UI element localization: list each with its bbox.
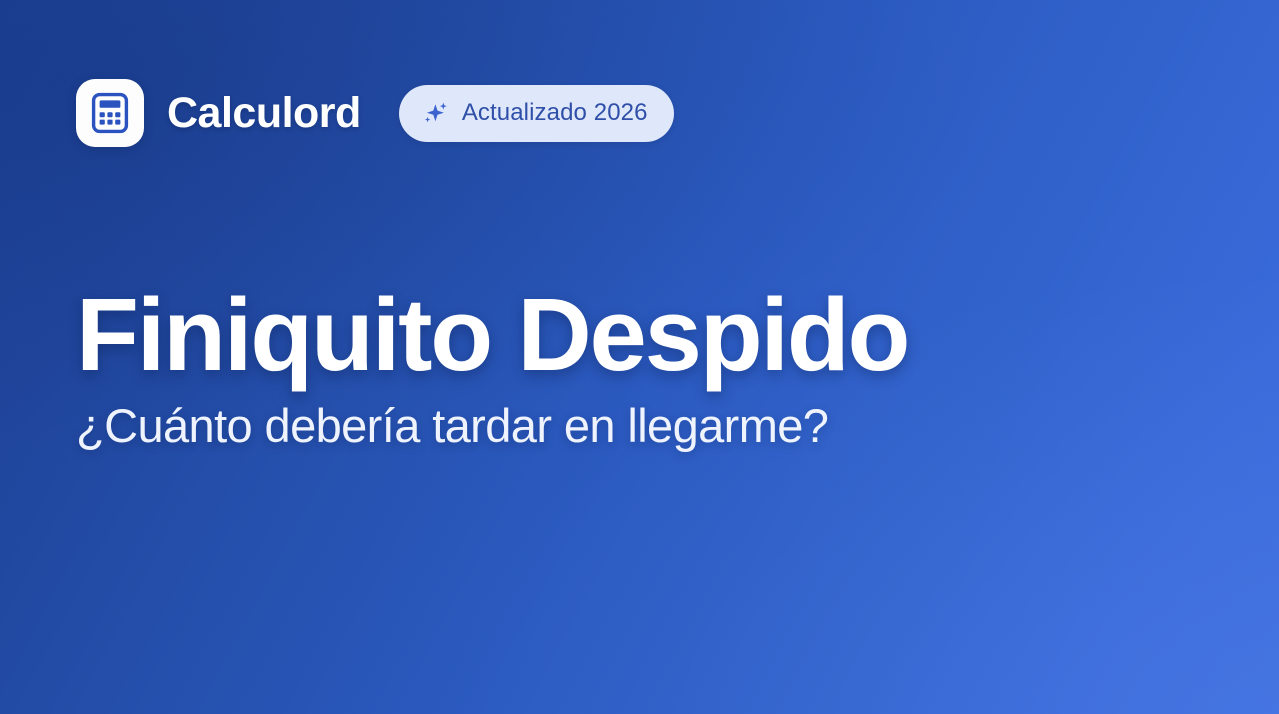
badge-label: Actualizado 2026: [462, 101, 648, 125]
app-logo-tile[interactable]: [76, 79, 144, 147]
page-subtitle: ¿Cuánto debería tardar en llegarme?: [76, 400, 908, 452]
brand-header: Calculord Actualizado 2026: [76, 79, 674, 147]
hero-slide: Calculord Actualizado 2026 Finiquito Des…: [0, 0, 1279, 714]
sparkles-icon: [421, 99, 449, 127]
brand-name: Calculord: [167, 92, 361, 135]
hero-text-block: Finiquito Despido ¿Cuánto debería tardar…: [76, 281, 908, 452]
status-badge: Actualizado 2026: [399, 85, 674, 142]
page-title: Finiquito Despido: [76, 281, 908, 388]
calculator-icon: [91, 92, 129, 134]
